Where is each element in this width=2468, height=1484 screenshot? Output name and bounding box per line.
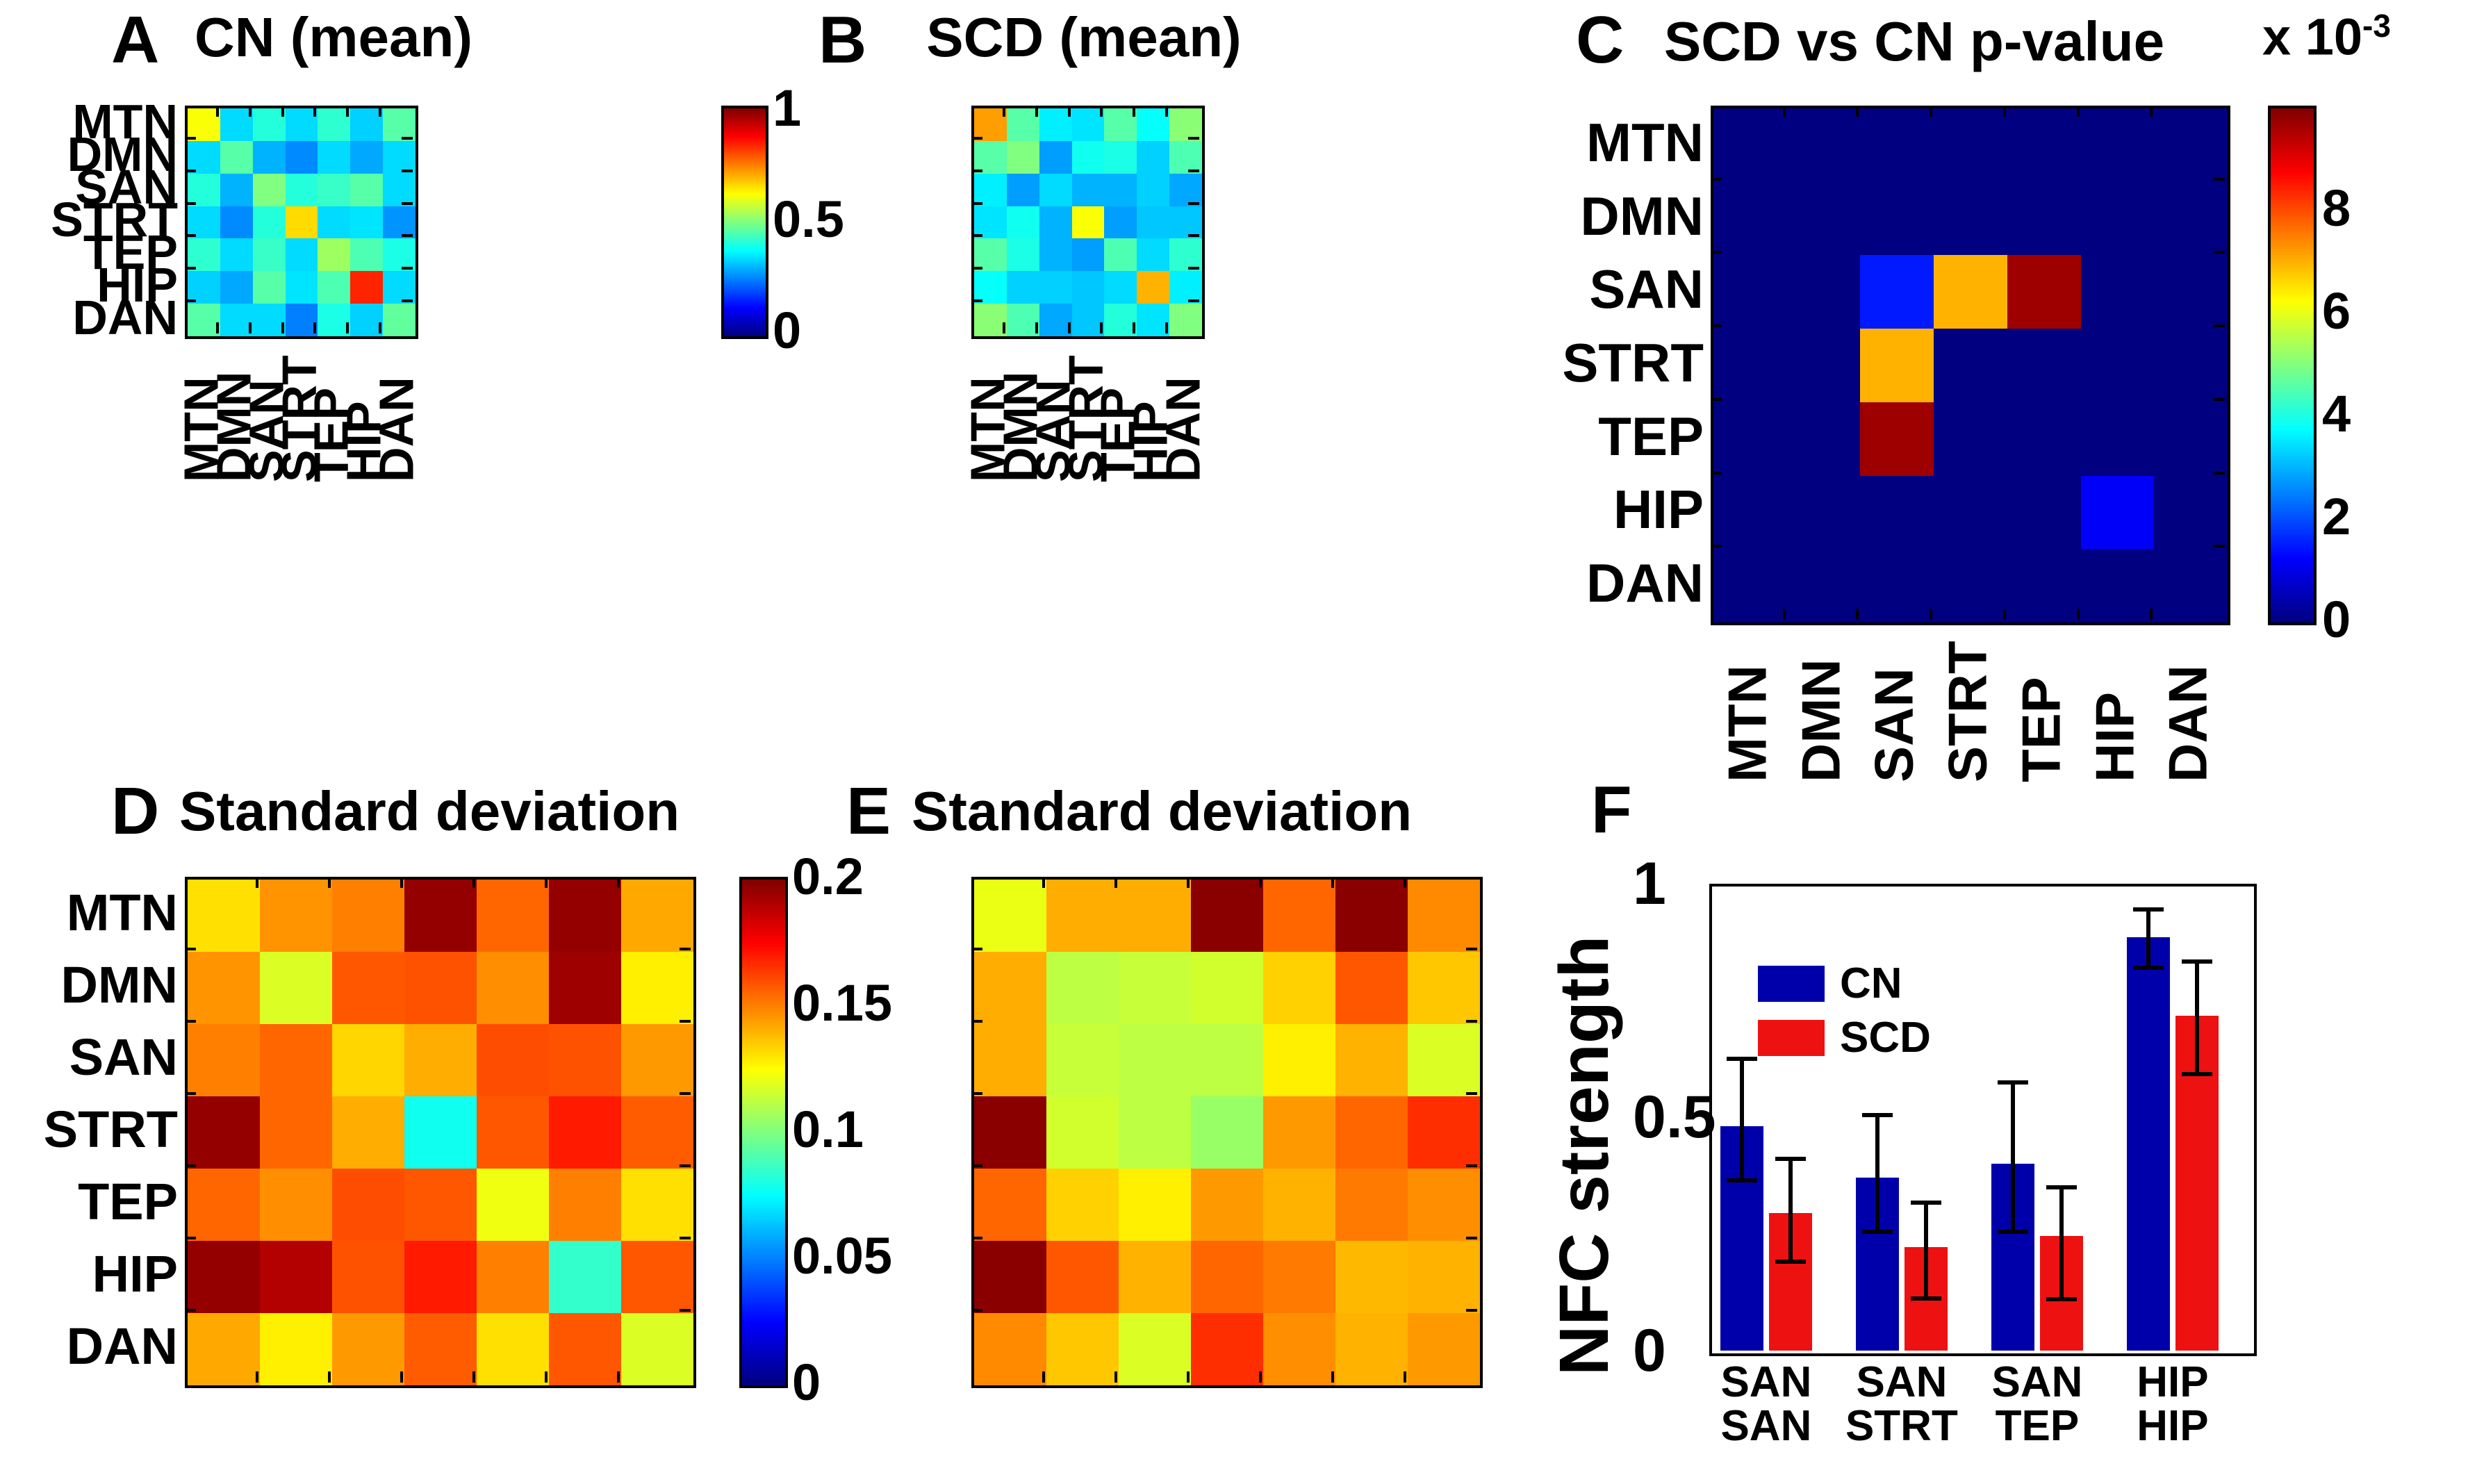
errorbar-line xyxy=(1740,1059,1744,1180)
axis-tick xyxy=(1068,322,1071,333)
axis-tick xyxy=(1188,170,1199,172)
axis-tick xyxy=(2150,609,2153,620)
panel-d-row-labels: MTNDMNSANSTRTTEPHIPDAN xyxy=(14,877,178,1383)
errorbar-cap xyxy=(1862,1113,1893,1117)
row-label-hip: HIP xyxy=(1613,473,1704,547)
heatmap-cell xyxy=(2007,255,2081,329)
heatmap-cell xyxy=(1335,880,1408,952)
heatmap-cell xyxy=(1934,329,2007,402)
axis-tick xyxy=(1404,1371,1406,1383)
axis-tick xyxy=(1035,106,1038,117)
axis-tick xyxy=(1711,545,1722,547)
heatmap-cell xyxy=(220,206,253,239)
heatmap-cell xyxy=(1119,1169,1191,1241)
heatmap-cell xyxy=(188,1313,260,1385)
colorbar-tick-8: 8 xyxy=(2322,183,2351,234)
axis-tick xyxy=(185,137,196,140)
panel-e-heatmap xyxy=(971,877,1483,1388)
errorbar-line xyxy=(2195,962,2199,1073)
axis-tick xyxy=(1187,1371,1190,1383)
axis-tick xyxy=(971,170,982,172)
col-label-mtn: MTN xyxy=(1711,629,1784,782)
panel-d-colorbar-ticks: 00.050.10.150.2 xyxy=(792,877,973,1383)
heatmap-cell xyxy=(350,174,383,206)
heatmap-cell xyxy=(1713,402,1787,476)
panel-a-title: CN (mean) xyxy=(139,10,528,65)
axis-tick xyxy=(971,948,982,950)
heatmap-cell xyxy=(1787,402,1861,476)
axis-tick xyxy=(2214,324,2225,327)
heatmap-cell xyxy=(1104,108,1137,141)
heatmap-cell xyxy=(1860,476,1934,550)
ytick-label-1: 1 xyxy=(1633,854,1666,914)
xtick-label-3: HIPHIP xyxy=(2089,1360,2256,1448)
axis-tick xyxy=(1100,322,1103,333)
errorbar-cap xyxy=(2133,907,2164,912)
heatmap-cell xyxy=(260,1096,332,1169)
heatmap-cell xyxy=(260,1169,332,1241)
panel-c-heatmap xyxy=(1711,106,2230,625)
errorbar-cap xyxy=(2046,1297,2077,1301)
heatmap-cell xyxy=(1007,238,1039,271)
heatmap-cell xyxy=(1104,304,1137,336)
axis-tick xyxy=(1188,267,1199,270)
colorbar-exponent-base: x 10 xyxy=(2262,8,2362,66)
colorbar-tick-6: 6 xyxy=(2322,286,2351,337)
axis-tick xyxy=(1003,106,1005,117)
colorbar-tick-2: 2 xyxy=(2322,491,2351,543)
heatmap-cell xyxy=(974,1024,1046,1096)
panel-c-title: SCD vs CN p-value xyxy=(1619,14,2210,69)
heatmap-cell xyxy=(260,1241,332,1313)
heatmap-cell xyxy=(1046,880,1119,952)
axis-tick xyxy=(1466,1237,1477,1239)
heatmap-cell xyxy=(1119,1024,1191,1096)
heatmap-cell xyxy=(188,206,220,239)
heatmap-cell xyxy=(2007,549,2081,623)
heatmap-cell xyxy=(253,304,286,336)
heatmap-cell xyxy=(974,271,1007,304)
heatmap-cell xyxy=(1191,1169,1263,1241)
heatmap-cell xyxy=(549,1169,621,1241)
axis-tick xyxy=(1711,472,1722,475)
colorbar-tick-0: 0 xyxy=(2322,594,2351,645)
axis-tick xyxy=(2003,609,2006,620)
heatmap-cell xyxy=(549,1241,621,1313)
heatmap-cell xyxy=(260,1313,332,1385)
axis-tick xyxy=(402,299,413,302)
legend-swatch-cn xyxy=(1758,966,1825,1002)
axis-tick xyxy=(1856,609,1859,620)
col-label-dmn: DMN xyxy=(1784,629,1858,782)
heatmap-cell xyxy=(621,952,693,1024)
axis-tick xyxy=(1133,322,1135,333)
xtick-line: HIP xyxy=(2089,1360,2256,1404)
heatmap-cell xyxy=(260,952,332,1024)
panel-d-title: Standard deviation xyxy=(165,784,693,839)
heatmap-cell xyxy=(1137,174,1169,206)
heatmap-cell xyxy=(621,1241,693,1313)
row-label-san: SAN xyxy=(1589,252,1704,326)
heatmap-cell xyxy=(1137,238,1169,271)
row-label-san: SAN xyxy=(69,1021,178,1094)
heatmap-cell xyxy=(549,952,621,1024)
heatmap-cell xyxy=(332,1096,404,1169)
axis-tick xyxy=(971,137,982,140)
heatmap-cell xyxy=(2007,108,2081,182)
axis-tick xyxy=(2214,545,2225,547)
heatmap-cell xyxy=(1713,182,1787,256)
heatmap-cell xyxy=(1713,329,1787,402)
heatmap-cell xyxy=(1169,271,1202,304)
axis-tick xyxy=(185,1164,196,1167)
axis-tick xyxy=(1783,609,1786,620)
heatmap-cell xyxy=(1335,1169,1408,1241)
heatmap-cell xyxy=(621,1024,693,1096)
panel-c-letter: C xyxy=(1576,7,1624,74)
heatmap-cell xyxy=(332,1024,404,1096)
heatmap-cell xyxy=(1934,182,2007,256)
heatmap-cell xyxy=(1119,1241,1191,1313)
heatmap-cell xyxy=(332,1313,404,1385)
colorbar-tick-0.1: 0.1 xyxy=(792,1104,864,1155)
axis-tick xyxy=(379,322,381,333)
heatmap-cell xyxy=(1713,476,1787,550)
heatmap-cell xyxy=(1137,108,1169,141)
axis-tick xyxy=(1711,398,1722,401)
heatmap-cell xyxy=(2081,329,2155,402)
heatmap-cell xyxy=(188,304,220,336)
heatmap-cell xyxy=(2007,329,2081,402)
heatmap-cell xyxy=(1787,476,1861,550)
heatmap-cell xyxy=(1007,108,1039,141)
heatmap-cell xyxy=(1408,1241,1480,1313)
heatmap-cell xyxy=(383,206,416,239)
errorbar-cap xyxy=(1911,1296,1941,1301)
heatmap-cell xyxy=(1104,206,1137,239)
heatmap-cell xyxy=(974,206,1007,239)
axis-tick xyxy=(1711,178,1722,181)
heatmap-cell xyxy=(1934,255,2007,329)
heatmap-cell xyxy=(1787,255,1861,329)
heatmap-cell xyxy=(1860,108,1934,182)
heatmap-cell xyxy=(1713,549,1787,623)
row-label-dan: DAN xyxy=(67,1310,178,1383)
heatmap-cell xyxy=(1046,952,1119,1024)
heatmap-cell xyxy=(1408,1169,1480,1241)
axis-tick xyxy=(2214,398,2225,401)
panel-b-title: SCD (mean) xyxy=(875,10,1292,65)
heatmap-cell xyxy=(1072,271,1105,304)
axis-tick xyxy=(472,1371,475,1383)
axis-tick xyxy=(1165,322,1168,333)
ytick-label-0.5: 0.5 xyxy=(1633,1087,1716,1147)
errorbar-cap xyxy=(2133,966,2164,970)
axis-tick xyxy=(216,106,219,117)
heatmap-cell xyxy=(253,141,286,174)
errorbar-cap xyxy=(2182,1072,2212,1076)
heatmap-cell xyxy=(1191,880,1263,952)
axis-tick xyxy=(1188,202,1199,205)
heatmap-cell xyxy=(477,952,549,1024)
heatmap-cell xyxy=(1072,108,1105,141)
heatmap-cell xyxy=(974,1169,1046,1241)
heatmap-cell xyxy=(2081,255,2155,329)
axis-tick xyxy=(971,267,982,270)
heatmap-cell xyxy=(1263,880,1335,952)
heatmap-cell xyxy=(318,238,350,271)
axis-tick xyxy=(185,1020,196,1023)
heatmap-cell xyxy=(404,952,477,1024)
heatmap-cell xyxy=(549,1024,621,1096)
axis-tick xyxy=(1003,322,1005,333)
axis-tick xyxy=(346,322,349,333)
heatmap-cell xyxy=(1335,1241,1408,1313)
heatmap-cell xyxy=(188,1241,260,1313)
axis-tick xyxy=(1035,322,1038,333)
heatmap-cell xyxy=(188,1169,260,1241)
heatmap-cell xyxy=(1169,304,1202,336)
bar-cn-3 xyxy=(2127,937,2170,1351)
heatmap-cell xyxy=(1787,108,1861,182)
row-label-dan: DAN xyxy=(72,301,178,333)
axis-tick xyxy=(1856,106,1859,117)
axis-tick xyxy=(379,106,381,117)
heatmap-cell xyxy=(621,1313,693,1385)
errorbar-line xyxy=(2059,1187,2064,1299)
heatmap-cell xyxy=(549,1096,621,1169)
axis-tick xyxy=(328,877,331,888)
heatmap-cell xyxy=(1072,141,1105,174)
panel-c-colorbar xyxy=(2268,106,2317,625)
heatmap-cell xyxy=(188,1024,260,1096)
errorbar-cap xyxy=(2046,1185,2077,1189)
errorbar-line xyxy=(2146,909,2150,968)
heatmap-cell xyxy=(1072,304,1105,336)
heatmap-cell xyxy=(477,1024,549,1096)
heatmap-cell xyxy=(477,880,549,952)
axis-tick xyxy=(402,267,413,270)
row-label-dmn: DMN xyxy=(1580,179,1704,253)
axis-tick xyxy=(1188,234,1199,237)
heatmap-cell xyxy=(1119,1313,1191,1385)
axis-tick xyxy=(472,877,475,888)
heatmap-cell xyxy=(318,174,350,206)
heatmap-cell xyxy=(1039,304,1072,336)
row-label-hip: HIP xyxy=(92,1238,178,1310)
heatmap-cell xyxy=(974,238,1007,271)
panel-b-col-labels: MTNDMNSANSTRTTEPHIPDAN xyxy=(971,343,1199,482)
axis-tick xyxy=(680,1164,691,1167)
axis-tick xyxy=(2150,106,2153,117)
col-label-strt: STRT xyxy=(1931,629,2005,782)
errorbar-cap xyxy=(1775,1260,1806,1264)
heatmap-cell xyxy=(1104,141,1137,174)
heatmap-cell xyxy=(1137,206,1169,239)
heatmap-cell xyxy=(1191,1096,1263,1169)
heatmap-cell xyxy=(1007,304,1039,336)
heatmap-cell xyxy=(1263,952,1335,1024)
heatmap-cell xyxy=(1408,952,1480,1024)
axis-tick xyxy=(1188,299,1199,302)
heatmap-cell xyxy=(318,304,350,336)
heatmap-cell xyxy=(974,304,1007,336)
axis-tick xyxy=(1930,106,1932,117)
heatmap-cell xyxy=(1039,238,1072,271)
heatmap-cell xyxy=(383,238,416,271)
heatmap-cell xyxy=(404,1096,477,1169)
col-label-hip: HIP xyxy=(2078,629,2152,782)
panel-c-colorbar-ticks: 02468 xyxy=(2322,106,2461,620)
heatmap-cell xyxy=(1263,1096,1335,1169)
heatmap-cell xyxy=(2007,182,2081,256)
axis-tick xyxy=(1188,137,1199,140)
heatmap-cell xyxy=(477,1313,549,1385)
axis-tick xyxy=(1114,1371,1117,1383)
heatmap-cell xyxy=(1169,206,1202,239)
panel-a-colorbar xyxy=(721,106,768,339)
heatmap-cell xyxy=(1787,549,1861,623)
axis-tick xyxy=(185,299,196,302)
colorbar-tick-0.2: 0.2 xyxy=(792,851,864,902)
heatmap-cell xyxy=(332,952,404,1024)
heatmap-cell xyxy=(253,108,286,141)
heatmap-cell xyxy=(350,304,383,336)
heatmap-cell xyxy=(2007,402,2081,476)
heatmap-cell xyxy=(1119,952,1191,1024)
col-label-san: SAN xyxy=(1857,629,1931,782)
errorbar-cap xyxy=(1998,1080,2028,1085)
heatmap-cell xyxy=(1335,1096,1408,1169)
heatmap-cell xyxy=(1046,1024,1119,1096)
axis-tick xyxy=(971,234,982,237)
heatmap-cell xyxy=(1263,1024,1335,1096)
axis-tick xyxy=(185,234,196,237)
heatmap-cell xyxy=(1335,1313,1408,1385)
axis-tick xyxy=(971,202,982,205)
heatmap-cell xyxy=(2154,402,2228,476)
heatmap-cell xyxy=(404,1313,477,1385)
heatmap-cell xyxy=(1934,549,2007,623)
axis-tick xyxy=(185,170,196,172)
panel-b-letter: B xyxy=(818,7,866,74)
col-label-dan: DAN xyxy=(2151,629,2225,782)
axis-tick xyxy=(346,106,349,117)
heatmap-cell xyxy=(332,880,404,952)
heatmap-cell xyxy=(2154,549,2228,623)
axis-tick xyxy=(971,1237,982,1239)
axis-tick xyxy=(1042,1371,1045,1383)
row-label-tep: TEP xyxy=(1598,399,1704,473)
errorbar-cap xyxy=(1911,1201,1941,1205)
heatmap-cell xyxy=(1713,108,1787,182)
row-label-tep: TEP xyxy=(78,1166,178,1238)
axis-tick xyxy=(1466,1309,1477,1312)
heatmap-cell xyxy=(383,174,416,206)
heatmap-cell xyxy=(477,1169,549,1241)
axis-tick xyxy=(1165,106,1168,117)
heatmap-cell xyxy=(188,108,220,141)
axis-tick xyxy=(2214,472,2225,475)
heatmap-cell xyxy=(1104,238,1137,271)
axis-tick xyxy=(1404,877,1406,888)
heatmap-cell xyxy=(974,141,1007,174)
heatmap-cell xyxy=(188,952,260,1024)
legend-label-scd: SCD xyxy=(1840,1016,1931,1060)
heatmap-cell xyxy=(1039,141,1072,174)
panel-f-ylabel: NFC strength xyxy=(1549,936,1619,1376)
heatmap-cell xyxy=(2154,476,2228,550)
axis-tick xyxy=(185,1092,196,1095)
axis-tick xyxy=(313,106,316,117)
heatmap-cell xyxy=(1119,1096,1191,1169)
axis-tick xyxy=(680,948,691,950)
axis-tick xyxy=(313,322,316,333)
row-label-dmn: DMN xyxy=(60,949,178,1021)
heatmap-cell xyxy=(1860,329,1934,402)
panel-f-legend: CNSCD xyxy=(1758,966,1980,1084)
axis-tick xyxy=(328,1371,331,1383)
row-label-mtn: MTN xyxy=(67,877,178,949)
legend-swatch-scd xyxy=(1758,1020,1825,1056)
row-label-dan: DAN xyxy=(1586,546,1704,620)
colorbar-tick-0: 0 xyxy=(792,1357,821,1408)
axis-tick xyxy=(1068,106,1071,117)
heatmap-cell xyxy=(350,108,383,141)
axis-tick xyxy=(1259,1371,1262,1383)
heatmap-cell xyxy=(974,1313,1046,1385)
heatmap-cell xyxy=(1787,329,1861,402)
heatmap-cell xyxy=(2154,255,2228,329)
errorbar-line xyxy=(1875,1115,1879,1232)
heatmap-cell xyxy=(1137,141,1169,174)
xtick-line: HIP xyxy=(2089,1404,2256,1448)
heatmap-cell xyxy=(2081,476,2155,550)
axis-tick xyxy=(1711,251,1722,254)
heatmap-cell xyxy=(2154,329,2228,402)
heatmap-cell xyxy=(188,880,260,952)
errorbar-cap xyxy=(1775,1157,1806,1161)
heatmap-cell xyxy=(1860,182,1934,256)
heatmap-cell xyxy=(477,1096,549,1169)
axis-tick xyxy=(402,170,413,172)
axis-tick xyxy=(617,877,620,888)
heatmap-cell xyxy=(1072,238,1105,271)
heatmap-cell xyxy=(350,271,383,304)
col-label-tep: TEP xyxy=(2005,629,2078,782)
axis-tick xyxy=(185,1237,196,1239)
heatmap-cell xyxy=(1007,271,1039,304)
heatmap-cell xyxy=(974,952,1046,1024)
row-label-mtn: MTN xyxy=(1586,106,1704,179)
panel-a-row-labels: MTNDMNSANSTRTTEPHIPDAN xyxy=(14,106,178,333)
heatmap-cell xyxy=(1169,108,1202,141)
heatmap-cell xyxy=(318,271,350,304)
panel-c-col-labels: MTNDMNSANSTRTTEPHIPDAN xyxy=(1711,629,2225,782)
heatmap-cell xyxy=(220,238,253,271)
axis-tick xyxy=(1711,324,1722,327)
heatmap-cell xyxy=(1860,255,1934,329)
heatmap-cell xyxy=(350,206,383,239)
heatmap-cell xyxy=(332,1241,404,1313)
heatmap-cell xyxy=(253,174,286,206)
heatmap-cell xyxy=(1007,174,1039,206)
panel-d-letter: D xyxy=(111,778,159,845)
heatmap-cell xyxy=(253,271,286,304)
heatmap-cell xyxy=(286,141,318,174)
axis-tick xyxy=(680,1309,691,1312)
panel-a-col-labels: MTNDMNSANSTRTTEPHIPDAN xyxy=(185,343,413,482)
